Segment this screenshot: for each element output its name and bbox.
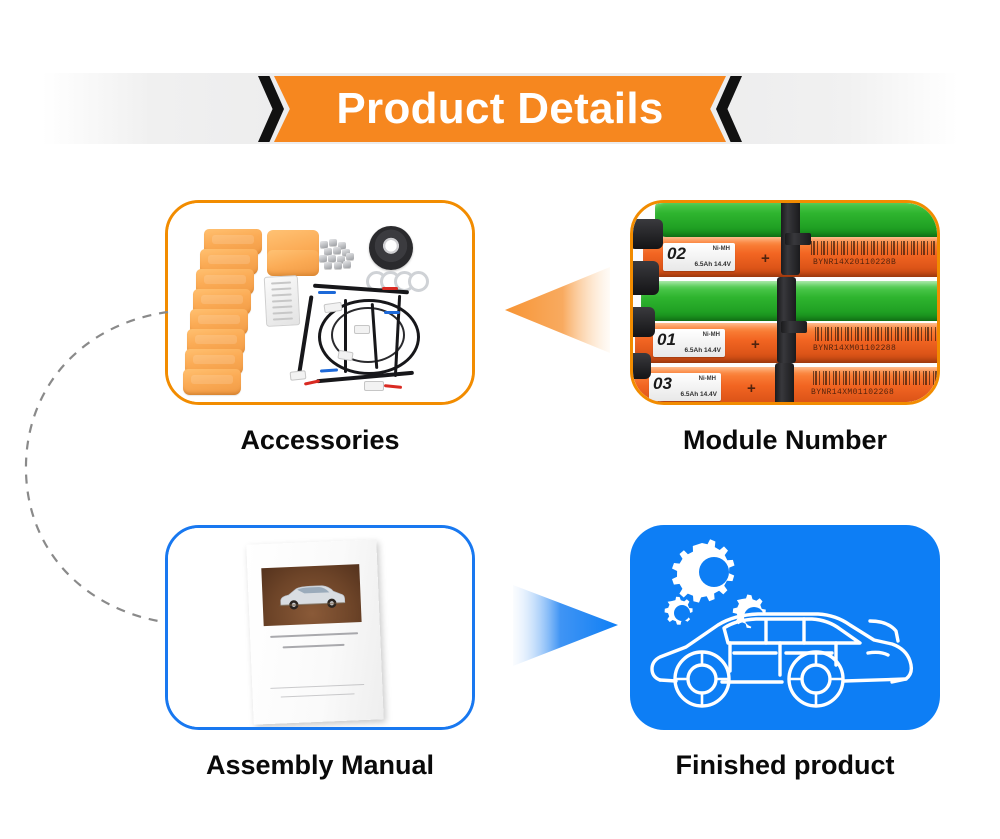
manual-title-line-1 [270,632,358,638]
busbar-plate [264,275,301,327]
arrow-left-icon [505,265,610,355]
manual-footer-line-2 [281,693,355,697]
module-spec: 6.5Ah 14.4V [681,391,718,398]
module-spec: 6.5Ah 14.4V [695,261,732,268]
module-label-03: 03 Ni-MH 6.5Ah 14.4V [649,373,721,401]
finished-product-artwork [630,525,940,730]
module-serial-02: BYNR14X20110228B [813,258,896,267]
module-serial-01: BYNR14XM01102288 [813,344,896,353]
module-number-value: 02 [667,245,686,262]
car-icon [652,614,911,706]
polarity-plus-03: + [747,381,756,396]
arrow-right-icon [513,583,618,668]
module-serial-03: BYNR14XM01102268 [811,388,894,397]
module-label-02: 02 Ni-MH 6.5Ah 14.4V [663,243,735,271]
caption-assembly-manual: Assembly Manual [165,750,475,781]
gear-icon [665,597,693,625]
manual-cover-photo [261,564,361,626]
manual-title-line-2 [283,644,345,649]
electrical-tape-roll [369,226,413,270]
module-number-value: 01 [657,331,676,348]
caption-module-number: Module Number [630,425,940,456]
dashed-connector-arc [10,280,230,660]
header-banner: Product Details [0,0,1000,160]
module-spec: 6.5Ah 14.4V [685,347,722,354]
caption-finished-product: Finished product [630,750,940,781]
module-chemistry: Ni-MH [699,376,716,382]
page-title: Product Details [274,76,726,142]
manual-booklet [246,539,383,724]
module-chemistry: Ni-MH [703,332,720,338]
module-label-01: 01 Ni-MH 6.5Ah 14.4V [653,329,725,357]
module-number-photo: 02 Ni-MH 6.5Ah 14.4V + BYNR14X20110228B … [633,203,937,402]
card-module-number[interactable]: 02 Ni-MH 6.5Ah 14.4V + BYNR14X20110228B … [630,200,940,405]
prius-car-photo-icon [274,583,349,612]
module-chemistry: Ni-MH [713,246,730,252]
module-number-value: 03 [653,375,672,392]
manual-footer-line-1 [270,684,364,689]
polarity-plus-01: + [751,337,760,352]
polarity-plus-02: + [761,251,770,266]
gear-icon [672,539,735,602]
card-finished-product[interactable] [630,525,940,730]
